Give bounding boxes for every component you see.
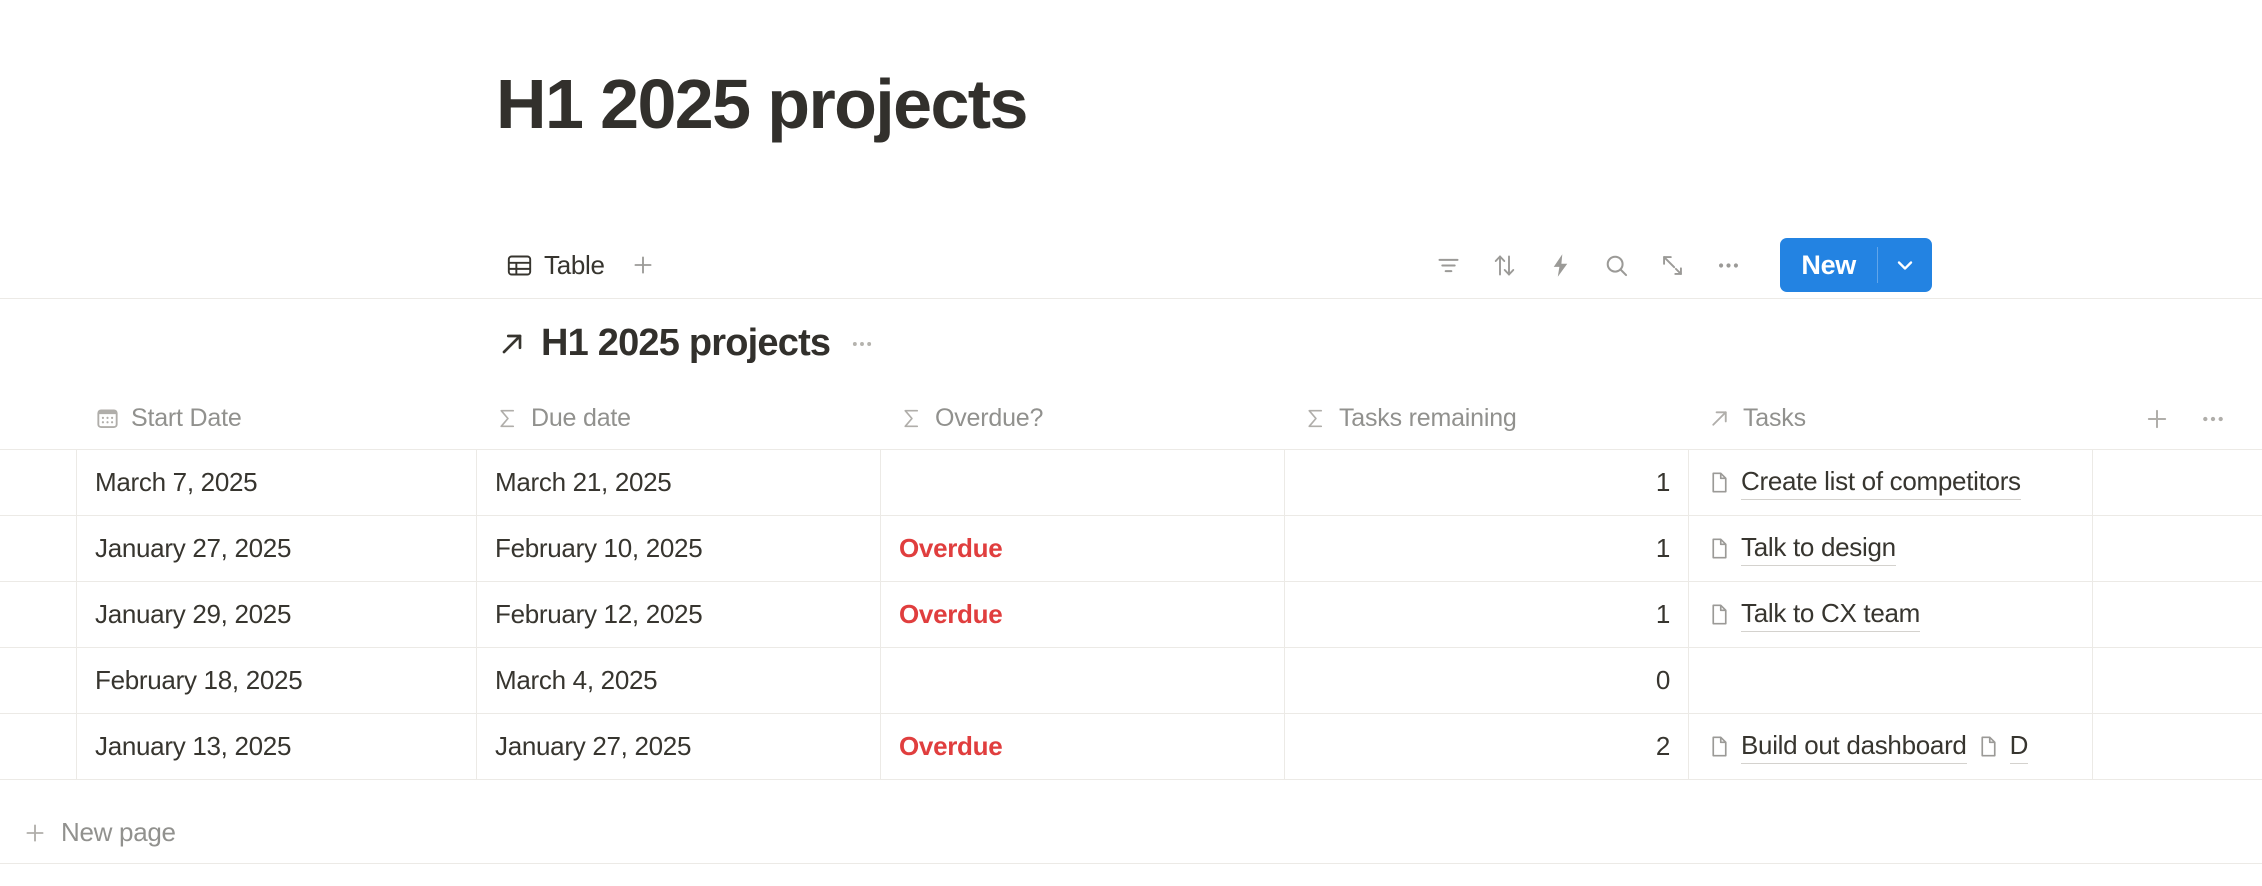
cell-row-end[interactable] <box>2093 648 2262 713</box>
column-header-start-date[interactable]: Start Date <box>77 388 477 450</box>
relation-label: Talk to design <box>1741 532 1896 566</box>
cell-due-date[interactable]: January 27, 2025 <box>477 714 881 779</box>
page-icon <box>1707 734 1732 759</box>
database-title[interactable]: H1 2025 projects <box>541 322 830 365</box>
cell-overdue[interactable]: Overdue <box>881 582 1285 647</box>
column-header-tasks[interactable]: Tasks <box>1689 388 2093 450</box>
cell-tasks-remaining[interactable]: 1 <box>1285 516 1689 581</box>
tab-table-label: Table <box>544 250 605 281</box>
view-tabs: Table <box>496 242 665 288</box>
page-title: H1 2025 projects <box>496 62 1027 146</box>
lightning-icon[interactable] <box>1534 241 1586 289</box>
cell-due-date[interactable]: February 12, 2025 <box>477 582 881 647</box>
cell-tasks[interactable]: Create list of competitors <box>1689 450 2093 515</box>
column-header-label: Overdue? <box>935 404 1043 433</box>
database-more-icon[interactable] <box>843 331 881 357</box>
arrow-up-right-icon <box>1707 406 1732 431</box>
cell-row-end[interactable] <box>2093 582 2262 647</box>
column-header-label: Due date <box>531 404 631 433</box>
page-icon <box>1976 734 2001 759</box>
column-header-partial[interactable] <box>0 388 77 450</box>
cell-due-date[interactable]: March 4, 2025 <box>477 648 881 713</box>
table-row[interactable]: February 18, 2025 March 4, 2025 0 <box>0 648 2262 714</box>
cell-partial[interactable] <box>0 516 77 581</box>
cell-overdue[interactable] <box>881 648 1285 713</box>
cell-tasks-remaining[interactable]: 1 <box>1285 450 1689 515</box>
cell-overdue[interactable] <box>881 450 1285 515</box>
toolbar-divider <box>0 298 2262 299</box>
page-icon <box>1707 536 1732 561</box>
table-row[interactable]: March 7, 2025 March 21, 2025 1 Create li… <box>0 450 2262 516</box>
arrow-up-right-icon <box>496 328 528 360</box>
relation-chip[interactable]: Talk to CX team <box>1707 598 1920 632</box>
cell-tasks[interactable] <box>1689 648 2093 713</box>
relation-chip[interactable]: Create list of competitors <box>1707 466 2021 500</box>
page-icon <box>1707 602 1732 627</box>
column-header-label: Start Date <box>131 404 242 433</box>
cell-start-date[interactable]: January 29, 2025 <box>77 582 477 647</box>
plus-icon <box>22 820 48 846</box>
relation-label: Build out dashboard <box>1741 730 1967 764</box>
cell-start-date[interactable]: January 13, 2025 <box>77 714 477 779</box>
relation-label: Create list of competitors <box>1741 466 2021 500</box>
new-button-group: New <box>1780 238 1932 292</box>
cell-row-end[interactable] <box>2093 714 2262 779</box>
new-page-label: New page <box>61 817 176 848</box>
cell-overdue[interactable]: Overdue <box>881 714 1285 779</box>
cell-tasks-remaining[interactable]: 2 <box>1285 714 1689 779</box>
table-row[interactable]: January 13, 2025 January 27, 2025 Overdu… <box>0 714 2262 780</box>
cell-row-end[interactable] <box>2093 516 2262 581</box>
table-more-options-icon[interactable] <box>2190 396 2236 442</box>
cell-tasks[interactable]: Talk to CX team <box>1689 582 2093 647</box>
cell-start-date[interactable]: January 27, 2025 <box>77 516 477 581</box>
table-row[interactable]: January 27, 2025 February 10, 2025 Overd… <box>0 516 2262 582</box>
sort-arrows-icon[interactable] <box>1478 241 1530 289</box>
relation-label: Talk to CX team <box>1741 598 1920 632</box>
relation-chip[interactable]: Build out dashboard <box>1707 730 1967 764</box>
notion-database-page: H1 2025 projects Table <box>0 0 2262 886</box>
table-header-row: Start Date Due date Overdue? <box>0 388 2262 450</box>
database-title-row: H1 2025 projects <box>496 322 881 365</box>
add-property-button[interactable] <box>2134 396 2180 442</box>
cell-row-end[interactable] <box>2093 450 2262 515</box>
cell-start-date[interactable]: February 18, 2025 <box>77 648 477 713</box>
cell-tasks[interactable]: Talk to design <box>1689 516 2093 581</box>
table-row[interactable]: January 29, 2025 February 12, 2025 Overd… <box>0 582 2262 648</box>
cell-start-date[interactable]: March 7, 2025 <box>77 450 477 515</box>
add-view-button[interactable] <box>621 243 665 287</box>
relation-chip[interactable]: D <box>1976 730 2028 764</box>
filter-icon[interactable] <box>1422 241 1474 289</box>
cell-partial[interactable] <box>0 582 77 647</box>
column-header-tasks-remaining[interactable]: Tasks remaining <box>1285 388 1689 450</box>
cell-due-date[interactable]: March 21, 2025 <box>477 450 881 515</box>
sigma-icon <box>899 406 924 431</box>
column-header-due-date[interactable]: Due date <box>477 388 881 450</box>
view-toolbar: Table <box>496 232 1932 298</box>
chevron-down-icon[interactable] <box>1878 238 1932 292</box>
column-header-label: Tasks <box>1743 404 1806 433</box>
column-header-label: Tasks remaining <box>1339 404 1517 433</box>
sigma-icon <box>1303 406 1328 431</box>
relation-label: D <box>2010 730 2028 764</box>
cell-tasks-remaining[interactable]: 0 <box>1285 648 1689 713</box>
more-options-icon[interactable] <box>1702 241 1754 289</box>
cell-partial[interactable] <box>0 648 77 713</box>
expand-arrows-icon[interactable] <box>1646 241 1698 289</box>
tab-table[interactable]: Table <box>496 242 615 288</box>
page-icon <box>1707 470 1732 495</box>
cell-overdue[interactable]: Overdue <box>881 516 1285 581</box>
toolbar-actions: New <box>1422 238 1932 292</box>
cell-due-date[interactable]: February 10, 2025 <box>477 516 881 581</box>
new-button[interactable]: New <box>1780 238 1877 292</box>
new-page-button[interactable]: New page <box>0 802 2262 864</box>
cell-partial[interactable] <box>0 450 77 515</box>
database-table: Start Date Due date Overdue? <box>0 388 2262 780</box>
table-icon <box>506 252 533 279</box>
relation-chip[interactable]: Talk to design <box>1707 532 1896 566</box>
table-header-actions <box>2134 396 2262 442</box>
cell-partial[interactable] <box>0 714 77 779</box>
sigma-icon <box>495 406 520 431</box>
calendar-icon <box>95 406 120 431</box>
column-header-overdue[interactable]: Overdue? <box>881 388 1285 450</box>
cell-tasks-remaining[interactable]: 1 <box>1285 582 1689 647</box>
search-icon[interactable] <box>1590 241 1642 289</box>
cell-tasks[interactable]: Build out dashboard D <box>1689 714 2093 779</box>
